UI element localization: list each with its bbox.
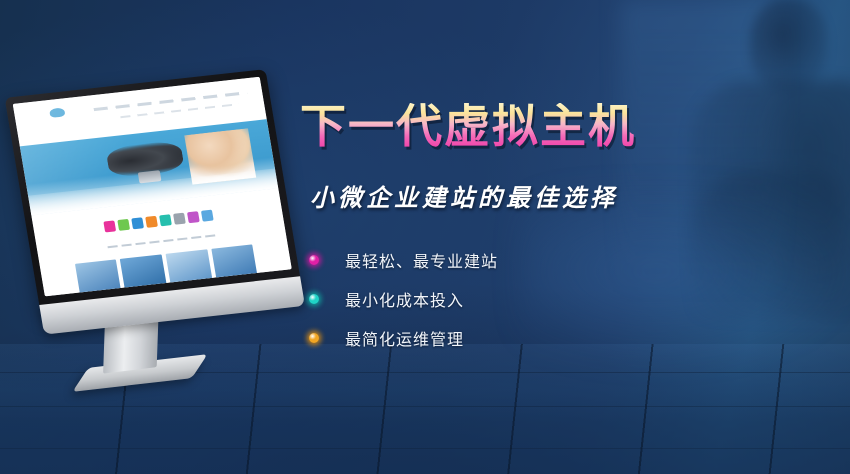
feature-bullet-list: 最轻松、最专业建站 最小化成本投入 最简化运维管理	[303, 248, 498, 350]
website-app-icon	[187, 211, 200, 223]
website-icon-label	[163, 239, 173, 242]
bullet-dot-teal-icon	[303, 288, 325, 310]
website-icon-label	[108, 245, 118, 248]
bullet-label: 最简化运维管理	[345, 326, 464, 350]
website-icon-label	[177, 238, 187, 241]
bullet-dot-magenta-icon	[303, 249, 325, 271]
silhouette-head	[750, 0, 828, 90]
website-icon-label	[149, 241, 159, 244]
headline-title: 下一代虚拟主机	[300, 103, 636, 149]
list-item: 最轻松、最专业建站	[303, 248, 498, 272]
website-app-icon	[159, 214, 172, 226]
silhouette-shoulder	[692, 170, 842, 330]
person-silhouette	[630, 0, 850, 310]
website-icon-label	[205, 234, 215, 237]
website-icon-label	[135, 242, 145, 245]
website-app-icon	[145, 216, 158, 228]
monitor-screen	[13, 77, 292, 297]
bullet-label: 最轻松、最专业建站	[345, 248, 498, 272]
website-logo-icon	[49, 108, 65, 119]
imac-monitor	[8, 82, 298, 402]
monitor-body	[5, 69, 302, 313]
website-app-icon	[131, 217, 144, 229]
list-item: 最简化运维管理	[303, 326, 498, 350]
website-icon-label	[121, 244, 131, 247]
bullet-label: 最小化成本投入	[345, 287, 464, 311]
website-app-icon	[103, 221, 116, 233]
website-nav-links	[94, 91, 248, 111]
promo-banner: 下一代虚拟主机 小微企业建站的最佳选择 最轻松、最专业建站 最小化成本投入 最简…	[0, 0, 850, 474]
website-icon-label	[191, 236, 201, 239]
subheadline-text: 小微企业建站的最佳选择	[310, 178, 618, 213]
website-app-icon	[173, 213, 186, 225]
list-item: 最小化成本投入	[303, 287, 498, 311]
website-app-icon	[200, 210, 213, 222]
website-app-icon	[117, 219, 130, 231]
bullet-dot-orange-icon	[303, 327, 325, 349]
